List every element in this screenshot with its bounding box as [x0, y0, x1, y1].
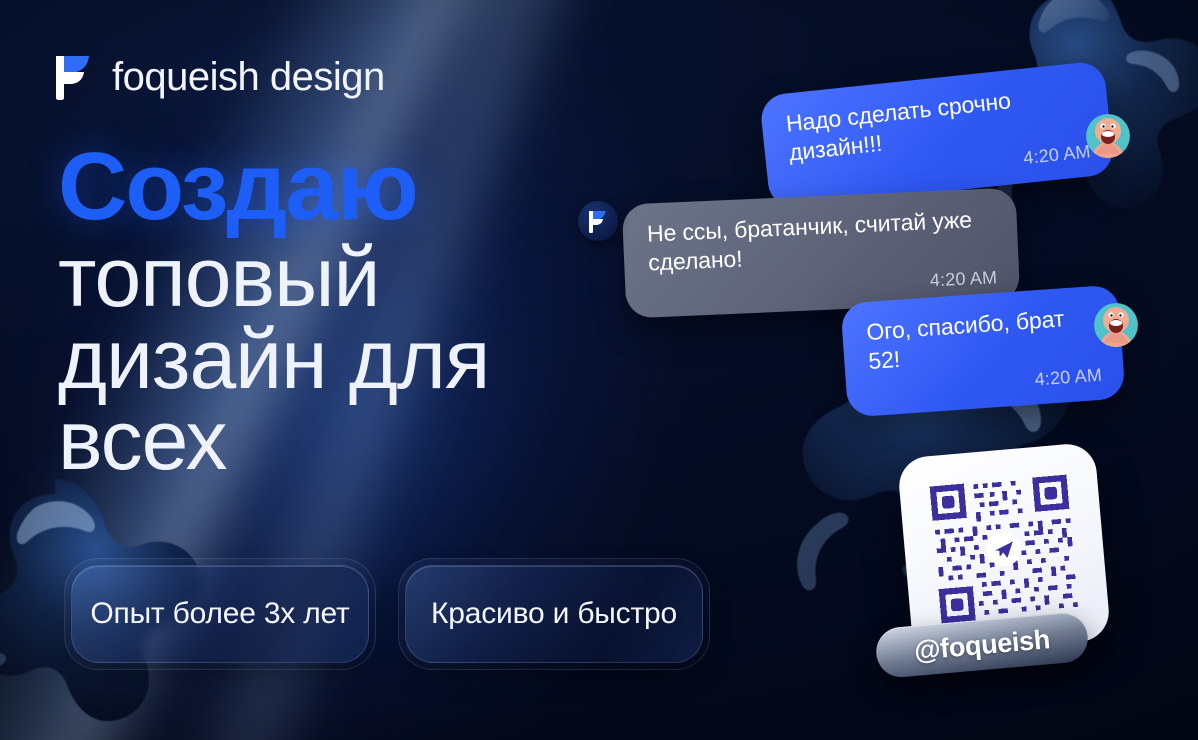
headline-line-3: дизайн для: [58, 319, 698, 400]
foqueish-f-logo-icon: [578, 201, 618, 241]
feature-pill-quality[interactable]: Красиво и быстро: [398, 558, 710, 670]
headline-line-4: всех: [58, 400, 698, 481]
chat-timestamp: 4:20 AM: [870, 365, 1103, 402]
chat-bubble-incoming-2: Ого, спасибо, брат 52! 4:20 AM: [840, 284, 1125, 417]
headline-line-2: топовый: [58, 237, 698, 318]
promo-banner: foqueish design Создаю топовый дизайн дл…: [0, 0, 1198, 740]
telegram-handle-label: @foqueish: [913, 624, 1051, 667]
foqueish-f-logo-icon: [52, 52, 96, 102]
feature-pill-experience[interactable]: Опыт более 3х лет: [64, 558, 376, 670]
feature-pill-quality-label: Красиво и быстро: [413, 596, 695, 631]
cartoon-person-avatar: [1086, 114, 1130, 158]
brand-name: foqueish design: [112, 55, 385, 100]
chat-message-text: Ого, спасибо, брат 52!: [865, 305, 1065, 373]
page-title: Создаю топовый дизайн для всех: [58, 140, 698, 482]
feature-pill-experience-label: Опыт более 3х лет: [72, 596, 367, 631]
chat-message-text: Не ссы, братанчик, считай уже сделано!: [646, 206, 972, 275]
brand-logo: foqueish design: [52, 52, 385, 102]
feature-pill-group: Опыт более 3х лет Красиво и быстро: [64, 558, 710, 670]
cartoon-person-avatar: [1094, 303, 1138, 347]
